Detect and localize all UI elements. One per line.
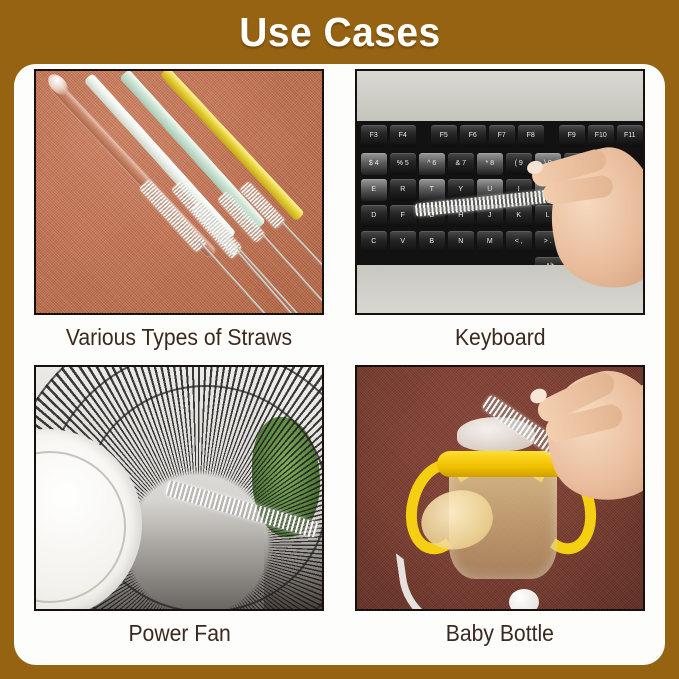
use-case-card-straws: Various Types of Straws [30,69,329,361]
keyboard-key[interactable]: B [419,231,445,253]
keyboard-key[interactable]: E [361,179,387,201]
content-panel: Various Types of Straws F3F4F5F6F7F8F9F1… [14,64,665,665]
use-case-card-keyboard: F3F4F5F6F7F8F9F10F11 $ 4% 5^ 6& 7* 8( 9)… [351,69,650,361]
baby-bottle-photo-content [357,367,643,609]
keyboard-photo-content: F3F4F5F6F7F8F9F10F11 $ 4% 5^ 6& 7* 8( 9)… [357,71,643,313]
photo-power-fan [34,365,324,611]
keyboard-key[interactable]: < , [506,231,532,253]
keyboard-key[interactable]: F11 [617,125,643,147]
keyboard-key[interactable]: F5 [431,125,457,147]
keyboard-key[interactable]: ^ 6 [419,153,445,175]
keyboard-key[interactable]: F [390,205,416,227]
caption-keyboard: Keyboard [454,325,545,350]
keyboard-key[interactable]: C [361,231,387,253]
keyboard-key[interactable]: F7 [489,125,515,147]
keyboard-key[interactable]: % 5 [390,153,416,175]
caption-straws: Various Types of Straws [66,325,292,350]
caption-power-fan: Power Fan [128,621,230,646]
keyboard-key[interactable]: F8 [518,125,544,147]
title-bar: Use Cases [0,0,679,64]
keyboard-key[interactable]: K [506,205,532,227]
keyboard-function-row: F3F4F5F6F7F8F9F10F11 [361,125,641,147]
keyboard-key[interactable]: D [361,205,387,227]
keyboard-top-bezel [357,71,643,125]
page-title: Use Cases [239,9,440,56]
photo-various-types-of-straws [34,69,324,315]
keyboard-key[interactable]: F9 [559,125,585,147]
straw-weight-ball [509,589,539,609]
keyboard-key[interactable]: * 8 [477,153,503,175]
use-case-card-baby-bottle: Baby Bottle [351,365,650,657]
sippy-cup-collar [437,451,569,477]
use-case-card-power-fan: Power Fan [30,365,329,657]
keyboard-key[interactable]: $ 4 [361,153,387,175]
keyboard-key[interactable]: T [419,179,445,201]
keyboard-key[interactable]: M [477,231,503,253]
keyboard-key[interactable]: F10 [588,125,614,147]
photo-keyboard: F3F4F5F6F7F8F9F10F11 $ 4% 5^ 6& 7* 8( 9)… [355,69,645,315]
use-cases-grid: Various Types of Straws F3F4F5F6F7F8F9F1… [14,64,665,665]
keyboard-key[interactable]: V [390,231,416,253]
caption-baby-bottle: Baby Bottle [446,621,554,646]
keyboard-key[interactable]: N [448,231,474,253]
keyboard-key[interactable]: & 7 [448,153,474,175]
keyboard-key[interactable]: F3 [361,125,387,147]
keyboard-key[interactable]: F6 [460,125,486,147]
power-fan-photo-content [36,367,322,609]
keyboard-key[interactable]: R [390,179,416,201]
photo-baby-bottle [355,365,645,611]
use-cases-infographic: Use Cases [0,0,679,679]
keyboard-key[interactable]: F4 [390,125,416,147]
straws-photo-content [36,71,322,313]
